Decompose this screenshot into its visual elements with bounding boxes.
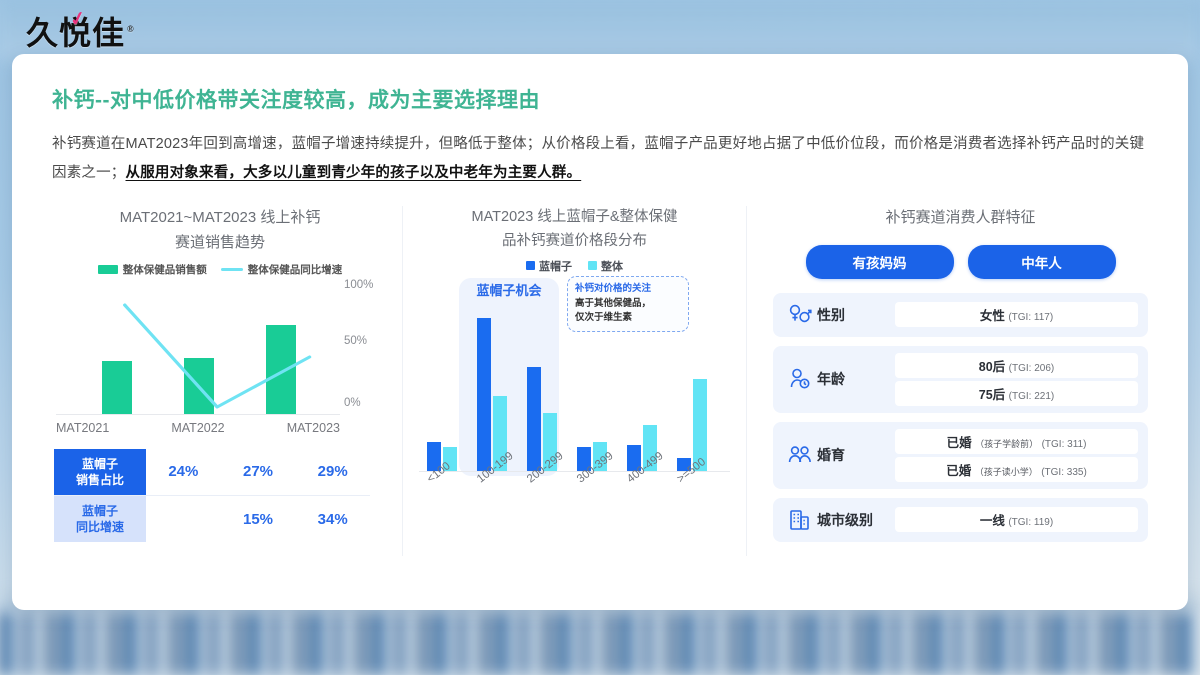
value-marriage-1: 已婚 （孩子学龄前） (TGI: 311) bbox=[895, 429, 1138, 454]
row-header-growth-line2: 同比增速 bbox=[76, 519, 124, 535]
panel-price-bands: MAT2023 线上蓝帽子&整体保健 品补钙赛道价格段分布 蓝帽子 整体 bbox=[402, 206, 747, 556]
value-marriage-2-main: 已婚 bbox=[946, 464, 971, 478]
page-title: 补钙--对中低价格带关注度较高，成为主要选择理由 bbox=[52, 84, 1148, 114]
value-gender-1: 女性 (TGI: 117) bbox=[895, 302, 1138, 327]
attr-values-age: 80后 (TGI: 206) 75后 (TGI: 221) bbox=[895, 353, 1138, 406]
value-age-1-main: 80后 bbox=[979, 360, 1005, 374]
left-chart-y-axis: 100% 50% 0% bbox=[340, 279, 386, 421]
cell-growth-2023: 34% bbox=[295, 496, 370, 542]
panels-container: MAT2021~MAT2023 线上补钙 赛道销售趋势 整体保健品销售额 整体保… bbox=[52, 206, 1148, 556]
age-person-icon bbox=[783, 366, 817, 392]
value-marriage-2-tgi: (TGI: 335) bbox=[1041, 467, 1087, 478]
attr-label-marriage: 婚育 bbox=[817, 445, 895, 465]
left-chart-legend: 整体保健品销售额 整体保健品同比增速 bbox=[52, 262, 388, 277]
ytick-100: 100% bbox=[344, 279, 373, 291]
attr-values-city-tier: 一线 (TGI: 119) bbox=[895, 507, 1138, 532]
opportunity-label: 蓝帽子机会 bbox=[459, 280, 559, 299]
right-panel-title: 补钙赛道消费人群特征 bbox=[773, 206, 1148, 231]
left-title-line1: MAT2021~MAT2023 线上补钙 bbox=[52, 206, 388, 231]
cell-growth-2022: 15% bbox=[221, 496, 296, 542]
mid-chart-x-axis: <100 100-199 200-299 300-399 400-499 >=5… bbox=[419, 476, 730, 536]
value-marriage-2-sub: （孩子读小学） bbox=[975, 467, 1038, 477]
cell-share-2021: 24% bbox=[146, 449, 221, 495]
family-icon bbox=[783, 442, 817, 468]
value-age-2: 75后 (TGI: 221) bbox=[895, 381, 1138, 406]
bar-pair-gte500 bbox=[677, 379, 707, 471]
building-icon bbox=[783, 507, 817, 533]
content-card: 补钙--对中低价格带关注度较高，成为主要选择理由 补钙赛道在MAT2023年回到… bbox=[12, 54, 1188, 610]
growth-line-series bbox=[56, 287, 340, 415]
attr-label-age: 年龄 bbox=[817, 369, 895, 389]
value-age-2-main: 75后 bbox=[979, 388, 1005, 402]
value-age-1-tgi: (TGI: 206) bbox=[1009, 363, 1055, 374]
attr-values-marriage: 已婚 （孩子学龄前） (TGI: 311) 已婚 （孩子读小学） (TGI: 3… bbox=[895, 429, 1138, 482]
bar-bluehat-100-199 bbox=[477, 318, 491, 471]
legend-item-overall: 整体 bbox=[588, 258, 623, 274]
value-marriage-2: 已婚 （孩子读小学） (TGI: 335) bbox=[895, 457, 1138, 482]
audience-pills: 有孩妈妈 中年人 bbox=[773, 245, 1148, 279]
slide-canvas: 久悦佳® ✓ 补钙--对中低价格带关注度较高，成为主要选择理由 补钙赛道在MAT… bbox=[0, 0, 1200, 675]
attr-values-gender: 女性 (TGI: 117) bbox=[895, 302, 1138, 327]
value-city-1-tgi: (TGI: 119) bbox=[1008, 517, 1053, 528]
row-header-share-line2: 销售占比 bbox=[76, 472, 124, 488]
value-gender-1-tgi: (TGI: 117) bbox=[1008, 312, 1053, 323]
attribute-list: 性别 女性 (TGI: 117) bbox=[773, 293, 1148, 542]
legend-label-bluehat: 蓝帽子 bbox=[539, 258, 572, 274]
xtick-mat2023: MAT2023 bbox=[287, 421, 340, 435]
attr-row-age: 年龄 80后 (TGI: 206) 75后 (TGI: 221) bbox=[773, 346, 1148, 413]
bottom-background-photo bbox=[0, 613, 1200, 675]
mid-title-line2: 品补钙赛道价格段分布 bbox=[419, 230, 730, 254]
mid-panel-title: MAT2023 线上蓝帽子&整体保健 品补钙赛道价格段分布 bbox=[419, 206, 730, 254]
value-marriage-1-main: 已婚 bbox=[947, 436, 972, 450]
legend-label-growth: 整体保健品同比增速 bbox=[248, 262, 343, 277]
attr-row-marriage: 婚育 已婚 （孩子学龄前） (TGI: 311) 已婚 （孩子读小学） (TGI… bbox=[773, 422, 1148, 489]
value-age-2-tgi: (TGI: 221) bbox=[1009, 391, 1055, 402]
panel-audience-profile: 补钙赛道消费人群特征 有孩妈妈 中年人 性别 bbox=[747, 206, 1148, 556]
price-attention-callout: 补钙对价格的关注 高于其他保健品， 仅次于维生素 bbox=[567, 276, 689, 332]
left-panel-title: MAT2021~MAT2023 线上补钙 赛道销售趋势 bbox=[52, 206, 388, 256]
value-age-1: 80后 (TGI: 206) bbox=[895, 353, 1138, 378]
body-paragraph: 补钙赛道在MAT2023年回到高增速，蓝帽子增速持续提升，但略低于整体；从价格段… bbox=[52, 130, 1148, 188]
legend-label-overall: 整体 bbox=[601, 258, 623, 274]
logo-check-accent: ✓ bbox=[68, 6, 89, 32]
bar-bluehat-200-299 bbox=[527, 367, 541, 471]
body-emphasis: 从服用对象来看，大多以儿童到青少年的孩子以及中老年为主要人群。 bbox=[126, 165, 582, 181]
trademark-symbol: ® bbox=[127, 24, 135, 34]
value-gender-1-main: 女性 bbox=[980, 309, 1005, 323]
value-city-1: 一线 (TGI: 119) bbox=[895, 507, 1138, 532]
table-row: 蓝帽子 销售占比 24% 27% 29% bbox=[54, 449, 370, 495]
mid-bar-chart: 蓝帽子机会 补钙对价格的关注 高于其他保健品， 仅次于维生素 bbox=[419, 302, 730, 472]
xtick-mat2022: MAT2022 bbox=[171, 421, 224, 435]
left-combo-chart: 100% 50% 0% bbox=[56, 287, 340, 415]
bar-pair-100-199 bbox=[477, 318, 507, 471]
legend-label-sales: 整体保健品销售额 bbox=[123, 262, 207, 277]
left-chart-x-axis: MAT2021 MAT2022 MAT2023 bbox=[56, 421, 340, 435]
ytick-50: 50% bbox=[344, 335, 367, 347]
cell-growth-2021 bbox=[146, 496, 221, 542]
legend-item-bluehat: 蓝帽子 bbox=[526, 258, 572, 274]
blue-hat-share-table: 蓝帽子 销售占比 24% 27% 29% 蓝帽子 同比增速 15% bbox=[54, 449, 370, 543]
value-city-1-main: 一线 bbox=[980, 514, 1005, 528]
xtick-mat2021: MAT2021 bbox=[56, 421, 109, 435]
legend-item-growth: 整体保健品同比增速 bbox=[221, 262, 343, 277]
mid-title-line1: MAT2023 线上蓝帽子&整体保健 bbox=[419, 206, 730, 230]
attr-label-city-tier: 城市级别 bbox=[817, 510, 895, 530]
attr-row-gender: 性别 女性 (TGI: 117) bbox=[773, 293, 1148, 337]
cell-share-2023: 29% bbox=[295, 449, 370, 495]
legend-overall-swatch-icon bbox=[588, 261, 597, 270]
row-header-growth: 蓝帽子 同比增速 bbox=[54, 496, 146, 542]
mid-chart-legend: 蓝帽子 整体 bbox=[419, 258, 730, 274]
attr-row-city-tier: 城市级别 一线 (TGI: 119) bbox=[773, 498, 1148, 542]
legend-bluehat-swatch-icon bbox=[526, 261, 535, 270]
pill-moms[interactable]: 有孩妈妈 bbox=[806, 245, 954, 279]
cell-share-2022: 27% bbox=[221, 449, 296, 495]
value-marriage-1-sub: （孩子学龄前） bbox=[975, 439, 1038, 449]
callout-line-2: 高于其他保健品， bbox=[575, 297, 681, 312]
gender-icon bbox=[783, 302, 817, 328]
left-title-line2: 赛道销售趋势 bbox=[52, 231, 388, 256]
brand-logo: 久悦佳® ✓ bbox=[26, 8, 135, 54]
legend-line-swatch-icon bbox=[221, 268, 243, 271]
callout-line-1: 补钙对价格的关注 bbox=[575, 282, 681, 297]
ytick-0: 0% bbox=[344, 397, 361, 409]
table-row: 蓝帽子 同比增速 15% 34% bbox=[54, 495, 370, 542]
attr-label-gender: 性别 bbox=[817, 305, 895, 325]
panel-sales-trend: MAT2021~MAT2023 线上补钙 赛道销售趋势 整体保健品销售额 整体保… bbox=[52, 206, 402, 556]
callout-line-3: 仅次于维生素 bbox=[575, 311, 681, 326]
value-marriage-1-tgi: (TGI: 311) bbox=[1042, 439, 1087, 450]
row-header-growth-line1: 蓝帽子 bbox=[82, 503, 118, 519]
row-header-share: 蓝帽子 销售占比 bbox=[54, 449, 146, 495]
legend-item-sales: 整体保健品销售额 bbox=[98, 262, 207, 277]
row-header-share-line1: 蓝帽子 bbox=[82, 456, 118, 472]
pill-middle-aged[interactable]: 中年人 bbox=[968, 245, 1116, 279]
top-background-photo bbox=[0, 0, 1200, 60]
legend-bar-swatch-icon bbox=[98, 265, 118, 274]
